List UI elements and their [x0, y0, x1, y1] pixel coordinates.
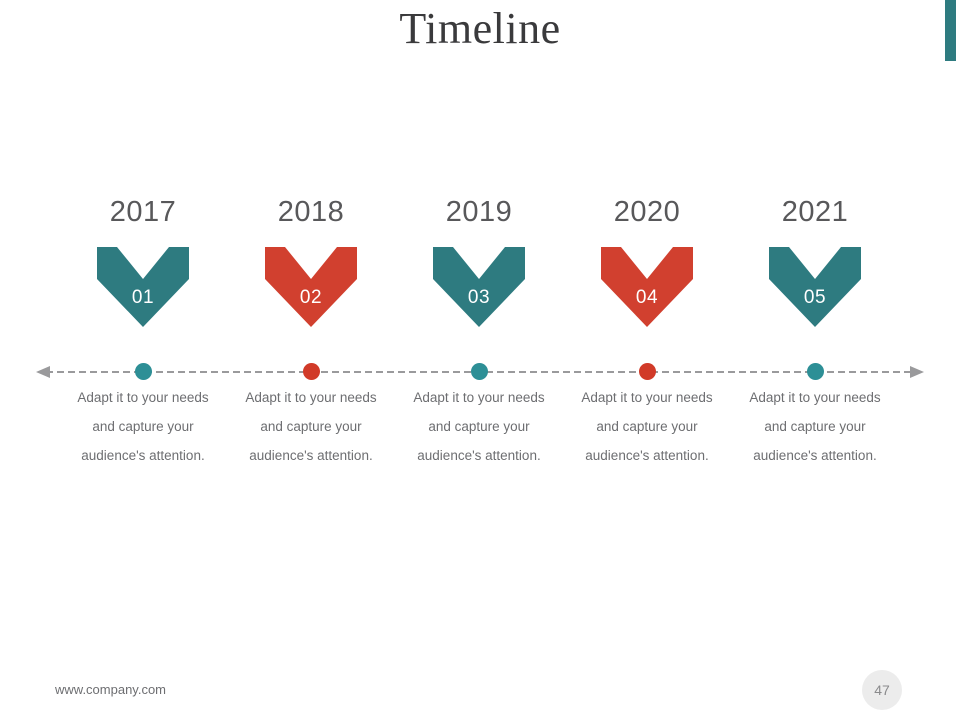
timeline-dot-3[interactable]	[471, 363, 488, 380]
milestone-chevron-5[interactable]: 05	[769, 247, 861, 327]
milestone-number-2: 02	[265, 287, 357, 309]
milestone-chevron-3[interactable]: 03	[433, 247, 525, 327]
footer-website-url[interactable]: www.company.com	[55, 681, 166, 699]
milestone-chevron-2[interactable]: 02	[265, 247, 357, 327]
timeline-item-5[interactable]: 2021 05 Adapt it to your needs and captu…	[731, 195, 899, 470]
milestone-number-5: 05	[769, 287, 861, 309]
timeline-dot-4[interactable]	[639, 363, 656, 380]
milestone-year-3: 2019	[395, 195, 563, 229]
page-number-badge: 47	[862, 670, 902, 710]
milestone-description-1: Adapt it to your needs and capture your …	[59, 383, 227, 470]
milestone-year-1: 2017	[59, 195, 227, 229]
timeline-item-1[interactable]: 2017 01 Adapt it to your needs and captu…	[59, 195, 227, 470]
milestone-year-4: 2020	[563, 195, 731, 229]
milestone-description-3: Adapt it to your needs and capture your …	[395, 383, 563, 470]
timeline-dot-5[interactable]	[807, 363, 824, 380]
milestone-year-2: 2018	[227, 195, 395, 229]
milestone-description-4: Adapt it to your needs and capture your …	[563, 383, 731, 470]
timeline-dot-2[interactable]	[303, 363, 320, 380]
milestone-chevron-4[interactable]: 04	[601, 247, 693, 327]
timeline-item-3[interactable]: 2019 03 Adapt it to your needs and captu…	[395, 195, 563, 470]
milestone-number-4: 04	[601, 287, 693, 309]
milestone-number-3: 03	[433, 287, 525, 309]
milestone-description-5: Adapt it to your needs and capture your …	[731, 383, 899, 470]
timeline-item-4[interactable]: 2020 04 Adapt it to your needs and captu…	[563, 195, 731, 470]
timeline-item-2[interactable]: 2018 02 Adapt it to your needs and captu…	[227, 195, 395, 470]
slide-canvas: Timeline 2017 01 Adapt it to your needs …	[0, 0, 960, 720]
milestone-chevron-1[interactable]: 01	[97, 247, 189, 327]
timeline-dot-1[interactable]	[135, 363, 152, 380]
milestone-description-2: Adapt it to your needs and capture your …	[227, 383, 395, 470]
milestone-number-1: 01	[97, 287, 189, 309]
milestone-year-5: 2021	[731, 195, 899, 229]
page-title: Timeline	[0, 0, 960, 58]
